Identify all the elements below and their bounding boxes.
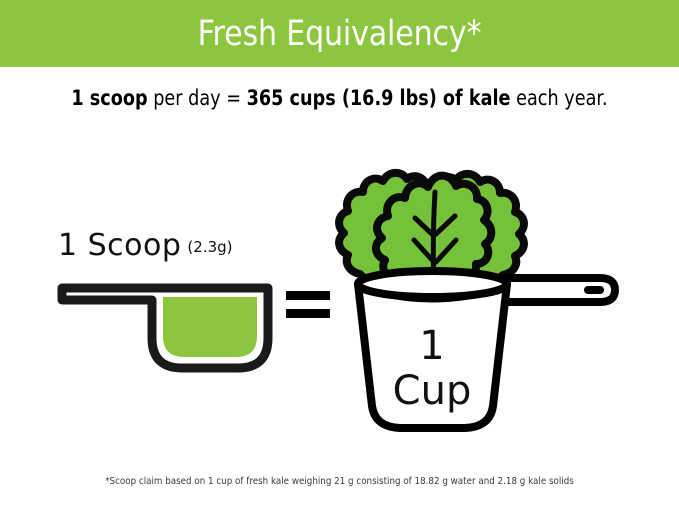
infographic-panel: Fresh Equivalency* 1 scoop per day = 365… [0, 0, 679, 509]
cup-label-number: 1 [419, 323, 444, 369]
equals-sign [286, 291, 330, 318]
scoop-powder-fill [163, 297, 257, 357]
cup-label-unit: Cup [393, 368, 472, 414]
scoop-illustration [62, 288, 268, 368]
footnote: *Scoop claim based on 1 cup of fresh kal… [27, 476, 652, 487]
measuring-cup: 1 Cup [358, 271, 615, 428]
illustration-artwork: 1 Cup [0, 0, 679, 509]
cup-handle-hole [584, 286, 604, 294]
